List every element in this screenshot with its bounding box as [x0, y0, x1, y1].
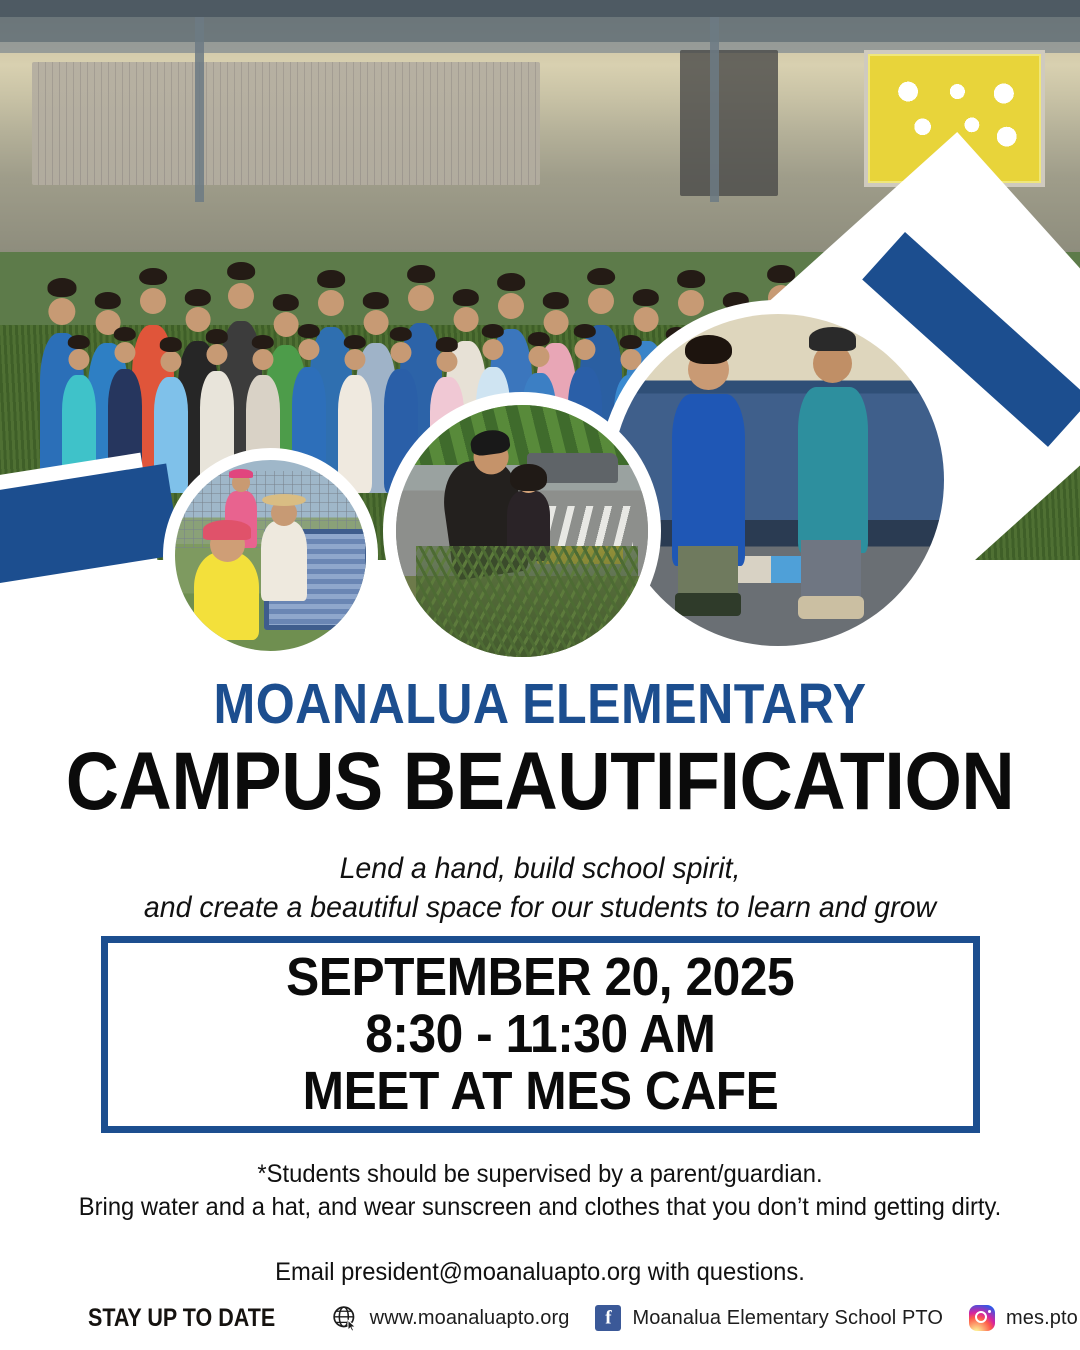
- instagram-icon: [969, 1305, 995, 1331]
- volunteer-yellow-shirt: [194, 552, 259, 640]
- tagline-line-2: and create a beautiful space for our stu…: [27, 888, 1053, 927]
- globe-icon: [332, 1305, 359, 1332]
- facebook-icon: [595, 1305, 621, 1331]
- student-painting-blue-shirt: [672, 394, 745, 567]
- facebook-label: Moanalua Elementary School PTO: [632, 1307, 943, 1330]
- roof-line: [0, 0, 1080, 17]
- stay-up-to-date-label: STAY UP TO DATE: [88, 1304, 275, 1333]
- instagram-link[interactable]: mes.pto: [969, 1305, 1078, 1331]
- hero-photo-collage: [0, 0, 1080, 690]
- contact-email-line[interactable]: Email president@moanaluapto.org with que…: [27, 1258, 1053, 1287]
- page-title: CAMPUS BEAUTIFICATION: [54, 741, 1026, 823]
- website-link[interactable]: www.moanaluapto.org: [332, 1305, 570, 1332]
- facebook-link[interactable]: Moanalua Elementary School PTO: [595, 1305, 943, 1331]
- event-date: SEPTEMBER 20, 2025: [286, 949, 794, 1006]
- tagline: Lend a hand, build school spirit, and cr…: [27, 849, 1053, 927]
- palm-fronds: [416, 546, 638, 657]
- photo-circle-palm-fronds: [383, 392, 661, 670]
- tagline-line-1: Lend a hand, build school spirit,: [27, 849, 1053, 888]
- eave-band: [0, 17, 1080, 42]
- notes-section: *Students should be supervised by a pare…: [0, 1158, 1080, 1287]
- event-details-box: SEPTEMBER 20, 2025 8:30 - 11:30 AM MEET …: [101, 936, 980, 1133]
- volunteer-straw-hat: [261, 521, 307, 601]
- student-painting-teal-shirt: [798, 387, 868, 553]
- flyer-content: MOANALUA ELEMENTARY CAMPUS BEAUTIFICATIO…: [0, 676, 1080, 927]
- event-time: 8:30 - 11:30 AM: [365, 1006, 715, 1063]
- note-what-to-bring: Bring water and a hat, and wear sunscree…: [27, 1191, 1053, 1224]
- school-name: MOANALUA ELEMENTARY: [65, 676, 1015, 733]
- footer: STAY UP TO DATE www.moanaluapto.org Moan…: [0, 1293, 1080, 1343]
- event-location: MEET AT MES CAFE: [303, 1063, 779, 1120]
- photo-circle-painting-vent: [163, 448, 378, 663]
- instagram-label: mes.pto: [1006, 1307, 1078, 1330]
- photo-circle-painting-wall: [598, 300, 958, 660]
- note-supervision: *Students should be supervised by a pare…: [27, 1158, 1053, 1191]
- website-label: www.moanaluapto.org: [370, 1307, 570, 1330]
